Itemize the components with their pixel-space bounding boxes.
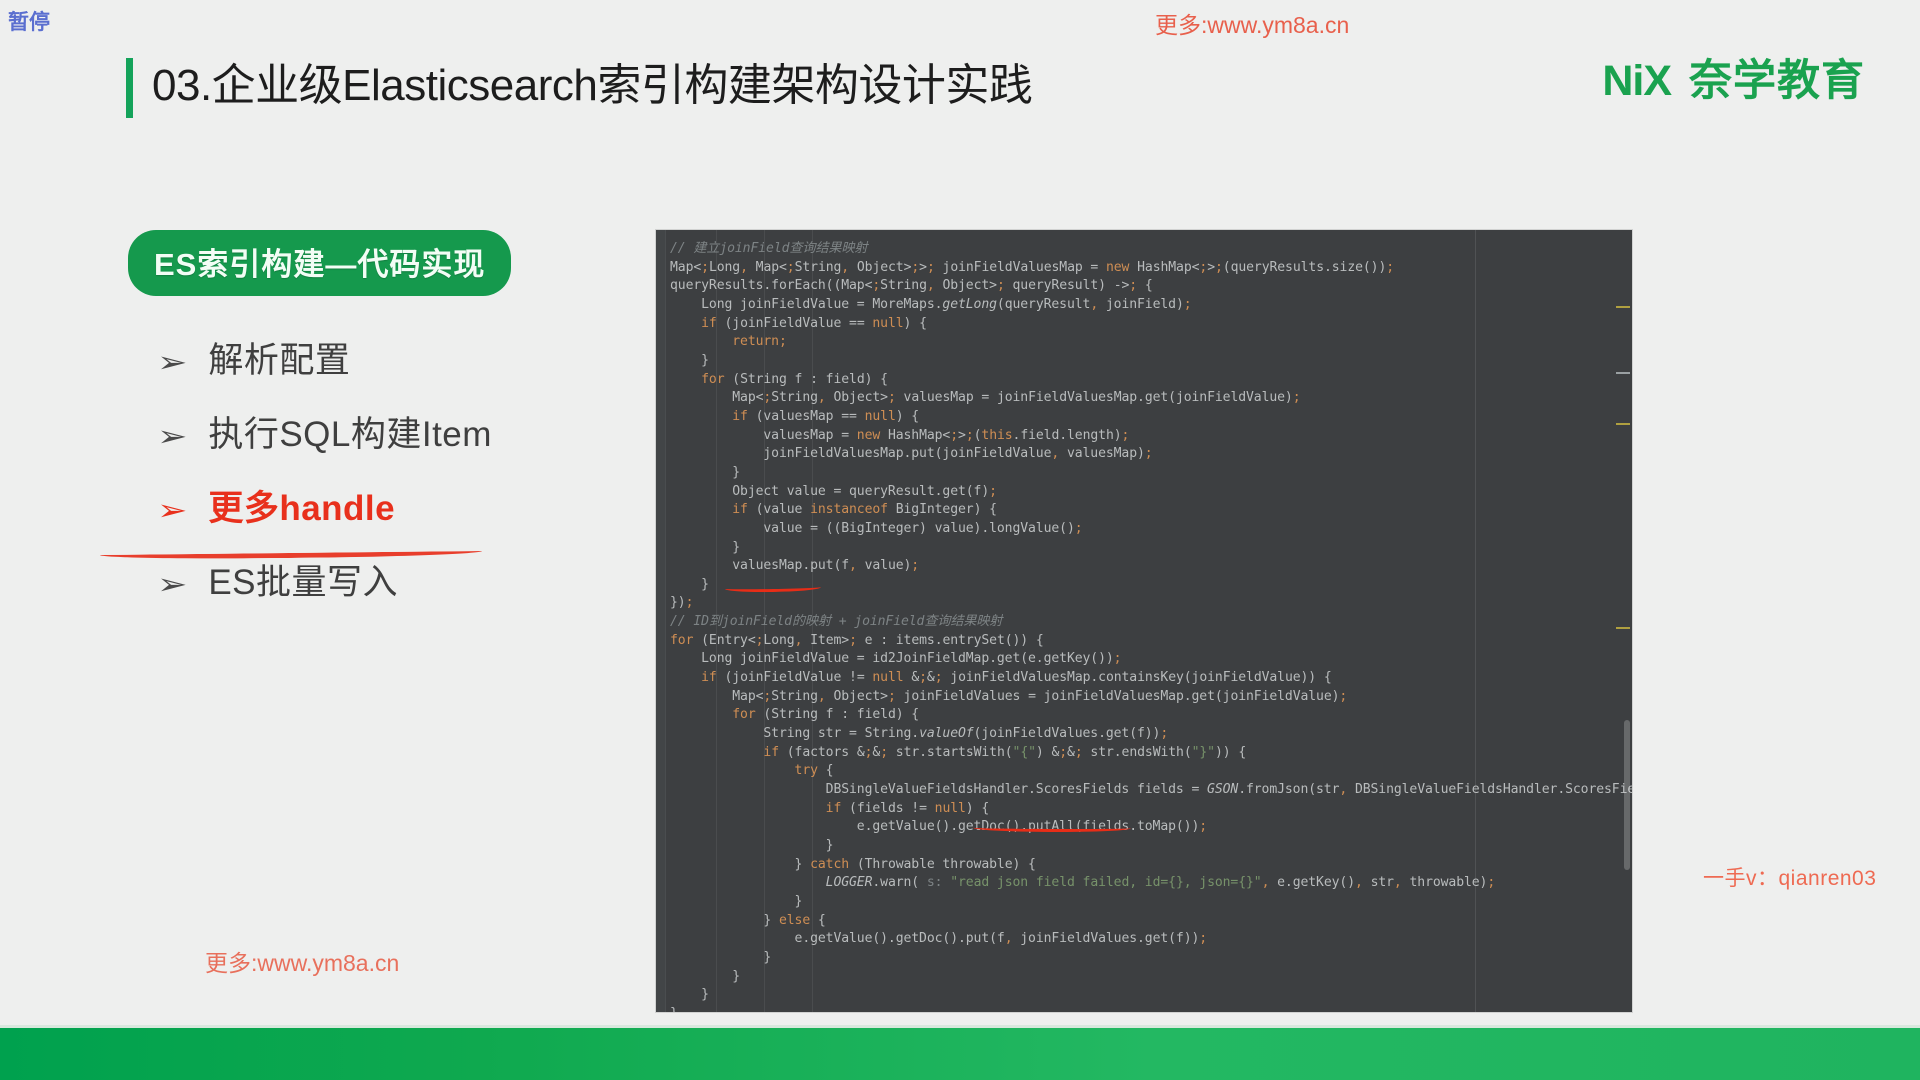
bullet-label: 更多handle [208, 480, 395, 531]
brand-mark-icon: NiX [1602, 60, 1671, 103]
code-text: // 建立joinField查询结果映射 Map<;Long, Map<;Str… [670, 240, 1632, 1012]
code-gutter [656, 230, 666, 1012]
watermark-top: 更多:www.ym8a.cn [1155, 6, 1349, 40]
section-badge: ES索引构建—代码实现 [128, 230, 511, 296]
title-accent-bar [126, 58, 133, 118]
bullet-label: 执行SQL构建Item [208, 406, 492, 457]
watermark-right: 一手v：qianren03 [1703, 862, 1876, 892]
code-screenshot-panel: // 建立joinField查询结果映射 Map<;Long, Map<;Str… [656, 230, 1632, 1012]
bullet-label: ES批量写入 [208, 554, 398, 605]
bullet-item-more-handle: ➢ 更多handle [128, 480, 618, 554]
code-marker [1616, 423, 1630, 425]
code-marker [1616, 627, 1630, 629]
bullet-label: 解析配置 [208, 332, 350, 383]
bullet-item-parse-config: ➢ 解析配置 [128, 332, 618, 406]
left-content-column: ES索引构建—代码实现 ➢ 解析配置 ➢ 执行SQL构建Item ➢ 更多han… [128, 230, 618, 628]
brand-name: 奈学教育 [1689, 60, 1865, 103]
slide-root: 暂停 更多:www.ym8a.cn 03.企业级Elasticsearch索引构… [0, 0, 1920, 1080]
page-title: 03.企业级Elasticsearch索引构建架构设计实践 [152, 49, 1032, 113]
pause-indicator: 暂停 [8, 6, 50, 36]
bullet-item-exec-sql: ➢ 执行SQL构建Item [128, 406, 618, 480]
bullet-list: ➢ 解析配置 ➢ 执行SQL构建Item ➢ 更多handle ➢ ES批量写入 [128, 332, 618, 628]
arrow-icon: ➢ [157, 423, 187, 452]
bottom-bar [0, 1028, 1920, 1080]
arrow-icon: ➢ [157, 571, 187, 600]
brand-logo: NiX 奈学教育 [1602, 60, 1865, 103]
arrow-icon: ➢ [157, 349, 187, 378]
watermark-bottom-left: 更多:www.ym8a.cn [205, 944, 399, 978]
code-marker [1616, 306, 1630, 308]
arrow-icon: ➢ [157, 497, 187, 526]
code-marker [1616, 372, 1630, 374]
code-scrollbar[interactable] [1624, 720, 1630, 870]
bullet-item-es-bulk-write: ➢ ES批量写入 [128, 554, 618, 628]
